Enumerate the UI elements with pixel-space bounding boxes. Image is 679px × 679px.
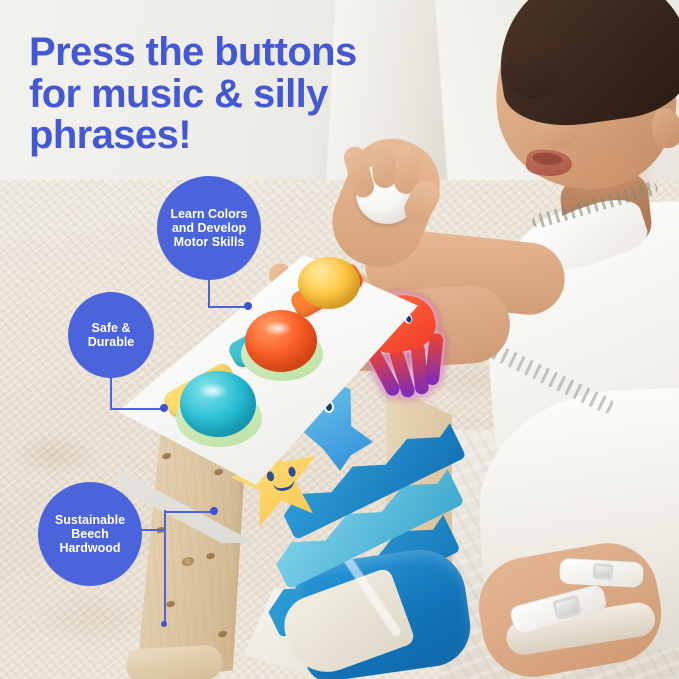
connector-horizontal [164,511,214,513]
headline-line-3: phrases! [29,115,429,157]
dome-highlight [264,321,292,336]
page-title: Press the buttons for music & silly phra… [29,32,429,157]
callout-line-2: Beech [71,527,109,541]
dowel-hole [161,452,171,460]
product-marketing-image: Press the buttons for music & silly phra… [0,0,679,679]
dowel-hole [213,468,223,476]
connector-endpoint-dot [244,302,252,310]
dowel-hole [165,600,175,608]
yellow-dome-button[interactable] [298,257,360,309]
connector-vertical [110,376,112,410]
callout-sustainable-beech-hardwood: Sustainable Beech Hardwood [38,482,142,586]
connector-vertical [208,278,210,308]
callout-learn-colors: Learn Colors and Develop Motor Skills [157,176,261,280]
callout-line-2: and Develop [172,221,246,235]
callout-line-3: Motor Skills [174,235,245,249]
teal-dome-button[interactable] [180,371,256,437]
screw-hole [181,556,195,568]
connector-endpoint-dot [160,404,168,412]
connector-endpoint-dot [210,507,218,515]
callout-safe-durable: Safe & Durable [68,292,154,378]
headline-line-2: for music & silly [29,74,429,116]
toy-left-foot [125,645,223,679]
wooden-toy-bench [118,255,448,679]
orange-dome-button[interactable] [245,310,317,372]
connector-vertical [164,510,166,626]
starfish-eye [288,466,297,477]
connector-horizontal [110,408,164,410]
toy-left-wood-panel [136,435,246,679]
sandal-ankle-buckle [593,563,614,580]
callout-line-3: Hardwood [59,541,120,555]
callout-line-2: Durable [88,335,135,349]
callout-line-1: Safe & [92,321,131,335]
dome-highlight [198,383,228,399]
connector-horizontal [208,306,248,308]
callout-line-1: Sustainable [55,513,125,527]
dowel-hole [205,552,215,560]
headline-line-1: Press the buttons [29,32,429,74]
connector-endpoint-dot [161,621,167,627]
dowel-hole [217,630,227,638]
callout-line-1: Learn Colors [170,207,247,221]
